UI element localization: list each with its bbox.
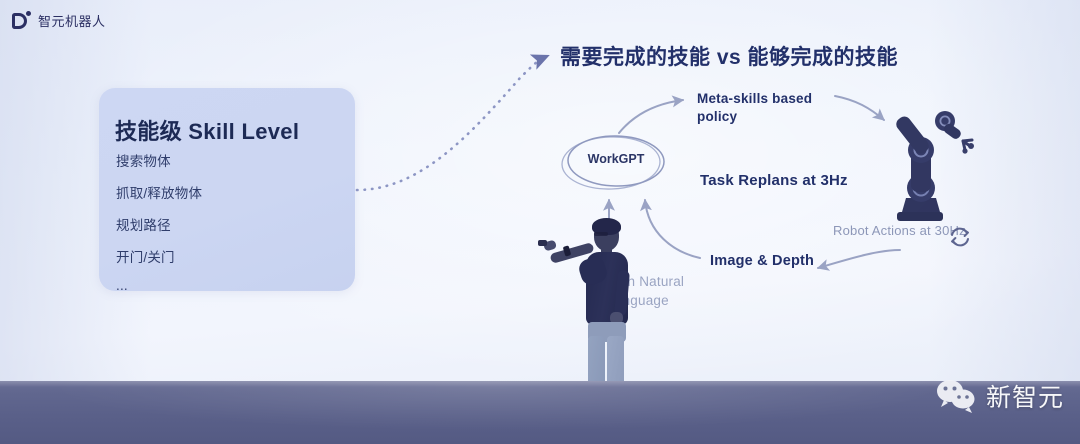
- stage-floor-sheen: [0, 381, 1080, 444]
- list-item: 抓取/释放物体: [116, 182, 202, 202]
- skill-list: 搜索物体 抓取/释放物体 规划路径 开门/关门 ...: [116, 150, 202, 305]
- workgpt-node-label: WorkGPT: [578, 152, 654, 166]
- meta-skills-label: Meta-skills based policy: [697, 90, 827, 126]
- speaker-glasses: [594, 232, 608, 236]
- task-replans-label: Task Replans at 3Hz: [700, 172, 848, 189]
- list-item: 搜索物体: [116, 150, 202, 170]
- watermark-label: 新智元: [986, 378, 1064, 414]
- skill-level-panel: 技能级 Skill Level 搜索物体 抓取/释放物体 规划路径 开门/关门 …: [99, 88, 355, 291]
- wechat-icon: [935, 378, 977, 414]
- skill-panel-title: 技能级 Skill Level: [115, 114, 299, 146]
- brand-logo: 智元机器人: [12, 11, 106, 30]
- aglibot-d-logo-icon: [12, 11, 31, 30]
- brand-name: 智元机器人: [38, 11, 106, 30]
- speaker-watch: [563, 245, 572, 256]
- list-item-ellipsis: ...: [116, 278, 202, 293]
- page-title: 需要完成的技能 vs 能够完成的技能: [560, 41, 898, 71]
- robot-actions-label: Robot Actions at 30Hz: [833, 222, 966, 239]
- list-item: 规划路径: [116, 214, 202, 234]
- presentation-screenshot: 智元机器人 技能级 Skill Level 搜索物体 抓取/释放物体 规划路径 …: [0, 0, 1080, 444]
- image-depth-label: Image & Depth: [710, 251, 814, 271]
- presenter-clicker: [538, 240, 547, 246]
- list-item: 开门/关门: [116, 246, 202, 266]
- watermark: 新智元: [935, 378, 1064, 414]
